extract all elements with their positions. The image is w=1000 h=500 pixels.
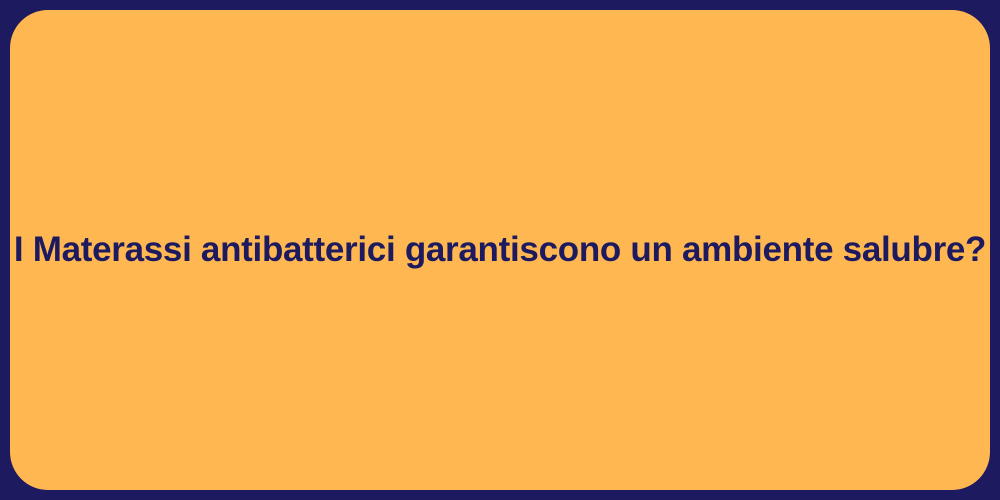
question-text: I Materassi antibatterici garantiscono u… [14, 228, 986, 272]
question-card-frame: I Materassi antibatterici garantiscono u… [0, 0, 1000, 500]
question-card-body: I Materassi antibatterici garantiscono u… [10, 10, 990, 490]
